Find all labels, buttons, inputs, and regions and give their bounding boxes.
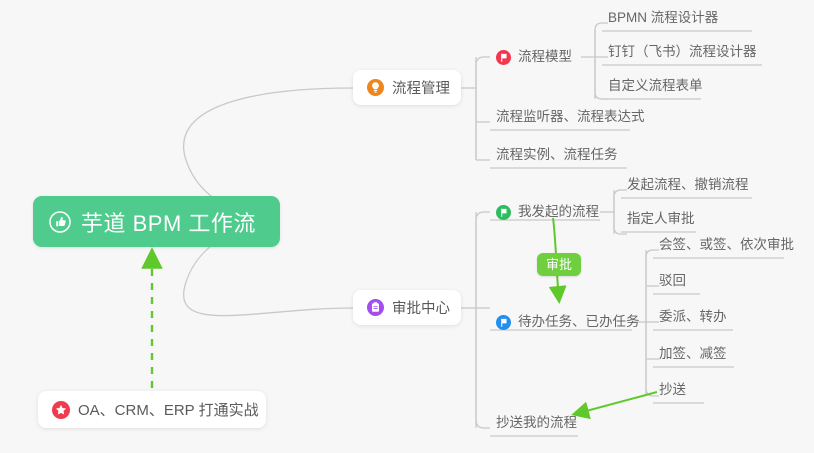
node-label: OA、CRM、ERP 打通实战: [78, 399, 259, 420]
node-label: 发起流程、撤销流程: [627, 172, 749, 198]
node-delegate-transfer[interactable]: 委派、转办: [655, 304, 733, 330]
node-label: BPMN 流程设计器: [608, 5, 718, 31]
node-process-model[interactable]: 流程模型: [492, 44, 578, 70]
node-label: 抄送我的流程: [496, 410, 577, 436]
node-label: 委派、转办: [659, 304, 727, 330]
node-label: 待办任务、已办任务: [518, 309, 640, 335]
node-todo-done-tasks[interactable]: 待办任务、已办任务: [492, 309, 646, 335]
node-label: 我发起的流程: [518, 199, 599, 225]
flag-circle-icon: [496, 315, 511, 330]
branch-label: 流程管理: [392, 77, 450, 98]
thumbs-up-circle-icon: [49, 211, 71, 233]
lightbulb-circle-icon: [367, 79, 384, 96]
node-cc-to-me-process[interactable]: 抄送我的流程: [492, 410, 583, 436]
node-label: 流程监听器、流程表达式: [496, 104, 645, 130]
branch-approval-center[interactable]: 审批中心: [353, 290, 461, 325]
node-start-cancel-process[interactable]: 发起流程、撤销流程: [623, 172, 755, 198]
node-process-instance-task[interactable]: 流程实例、流程任务: [492, 142, 624, 168]
node-countersign-orsign-sequential[interactable]: 会签、或签、依次审批: [655, 232, 800, 258]
node-label: 指定人审批: [627, 206, 695, 232]
node-assignee-approval[interactable]: 指定人审批: [623, 206, 701, 232]
node-add-remove-sign[interactable]: 加签、减签: [655, 341, 733, 367]
node-label: 流程模型: [518, 44, 572, 70]
node-reject[interactable]: 驳回: [655, 268, 692, 294]
branch-process-management[interactable]: 流程管理: [353, 70, 461, 105]
node-label: 会签、或签、依次审批: [659, 232, 794, 258]
node-my-initiated-process[interactable]: 我发起的流程: [492, 199, 605, 225]
node-label: 抄送: [659, 377, 686, 403]
node-label: 自定义流程表单: [608, 73, 703, 99]
flag-circle-icon: [496, 50, 511, 65]
flag-circle-icon: [496, 205, 511, 220]
cc-flow-arrow: [575, 392, 657, 414]
badge-label: 审批: [546, 257, 572, 272]
node-custom-process-form[interactable]: 自定义流程表单: [604, 73, 709, 99]
node-dingtalk-feishu-designer[interactable]: 钉钉（飞书）流程设计器: [604, 39, 763, 65]
root-label: 芋道 BPM 工作流: [81, 206, 256, 238]
star-circle-icon: [52, 401, 70, 419]
node-process-listener-expression[interactable]: 流程监听器、流程表达式: [492, 104, 651, 130]
approval-annotation-badge: 审批: [537, 253, 581, 276]
clipboard-circle-icon: [367, 299, 384, 316]
node-cc[interactable]: 抄送: [655, 377, 692, 403]
node-oa-crm-erp[interactable]: OA、CRM、ERP 打通实战: [38, 391, 266, 428]
node-label: 驳回: [659, 268, 686, 294]
node-bpmn-designer[interactable]: BPMN 流程设计器: [604, 5, 724, 31]
root-node[interactable]: 芋道 BPM 工作流: [33, 196, 280, 247]
branch-label: 审批中心: [392, 297, 450, 318]
node-label: 钉钉（飞书）流程设计器: [608, 39, 757, 65]
mindmap-canvas: 芋道 BPM 工作流 流程管理 流程模型 流程监听器、流程表达式 流程实例、流程…: [0, 0, 814, 453]
node-label: 流程实例、流程任务: [496, 142, 618, 168]
node-label: 加签、减签: [659, 341, 727, 367]
